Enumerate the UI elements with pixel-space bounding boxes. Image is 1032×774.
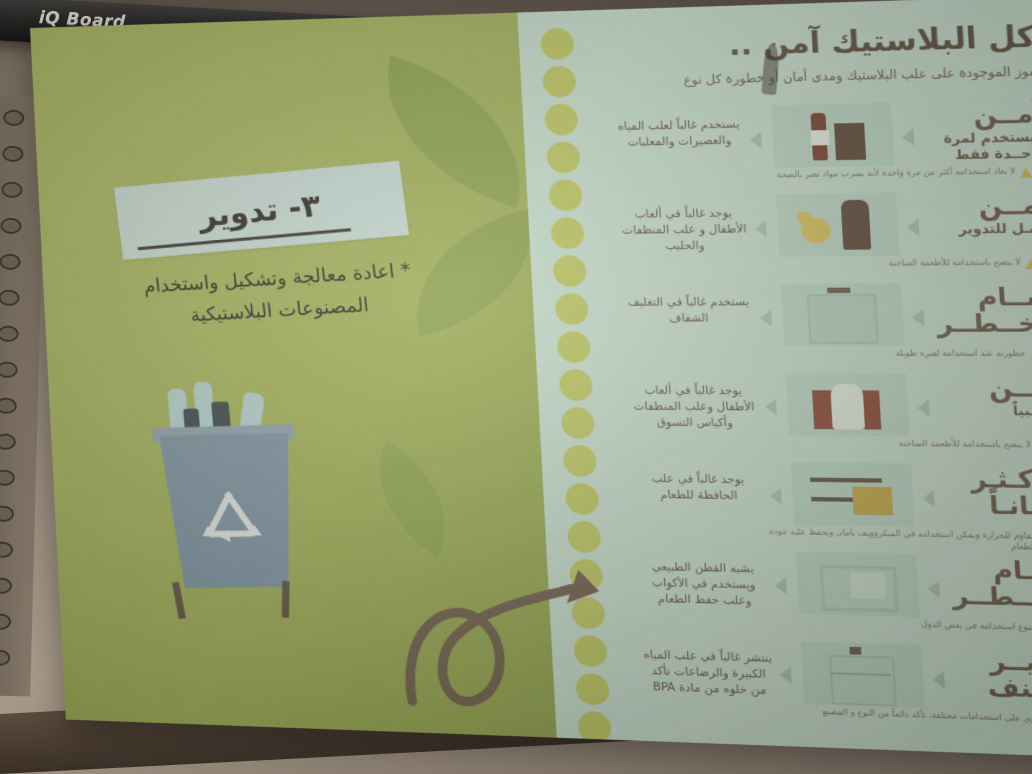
caution-note: لا ينصح باستخدامه للأطعمة الساخنة: [755, 437, 1031, 450]
divider-dot: [565, 483, 600, 515]
divider-dot: [540, 28, 575, 60]
clear-container-icon: [807, 294, 879, 344]
bin-leg: [282, 581, 290, 619]
notebook-ring: [0, 254, 21, 271]
plastic-code-row: 3Vســام وخــطــريستخدم غالباً في التغليف…: [611, 279, 1032, 366]
bottle-label-icon: [810, 130, 829, 145]
chevron-left-icon: [760, 310, 772, 327]
safety-verdict: آمــننســبياً: [934, 375, 1032, 419]
product-thumbnail: [781, 283, 905, 346]
chevron-left-icon: [922, 490, 935, 508]
divider-dot: [552, 255, 587, 287]
usage-description: ينتشر غالباً في علب المياه الكبيرة والرض…: [641, 647, 777, 700]
chevron-left-icon: [932, 671, 945, 689]
box-icon: [834, 123, 866, 160]
chevron-left-icon: [902, 128, 915, 146]
safety-verdict: آمــنقابـل للتدوير: [924, 193, 1032, 238]
usage-description: يوجد غالباً في ألعاب الأطفال وعلب المنظف…: [627, 383, 762, 432]
verdict-main: آمــن: [924, 193, 1032, 221]
safety-verdict: آمــنويستخدم لمرة واحــدة فقط: [919, 102, 1032, 163]
chevron-left-icon: [907, 219, 920, 237]
caution-note: لا ينصح باستخدامه للأطعمة الساخنة: [745, 257, 1020, 270]
usage-description: يستخدم غالباً لعلب المياه والعصيرات والم…: [612, 117, 746, 152]
divider-dot: [542, 66, 577, 98]
safety-verdict: ســام وخــطــر: [929, 284, 1032, 337]
handdrawn-arrow-annotation: [384, 535, 622, 725]
chevron-left-icon: [755, 220, 767, 237]
milk-jug-icon: [841, 200, 872, 250]
divider-dot: [563, 445, 598, 477]
notebook-ring: [0, 218, 21, 235]
notebook-ring: [0, 613, 11, 630]
left-slide: ٣- تدوير * اعادة معالجة وتشكيل واستخدام …: [30, 13, 557, 738]
notebook-ring: [0, 649, 10, 666]
recycle-symbol-icon: [194, 487, 267, 549]
caution-note: ممنوع استخدامه في بعض الدول: [765, 615, 1032, 633]
chevron-left-icon: [927, 580, 940, 598]
caution-note: خطورته عند استخدامه لفترة طويلة: [750, 348, 1026, 359]
verdict-main: آمــن: [934, 375, 1032, 402]
chevron-left-icon: [765, 399, 777, 416]
photo-of-classroom-projection: iQ Board ٣- تدوير * اعادة معالجة وتشكيل …: [0, 0, 1032, 774]
verdict-sub: نســبياً: [936, 403, 1032, 420]
usage-description: يستخدم غالباً في التغليف الشفاف: [622, 295, 756, 328]
notebook-ring: [2, 146, 23, 163]
warning-triangle-icon: [1020, 168, 1032, 178]
foam-cup-icon: [850, 572, 886, 599]
plastic-code-row: 1PETEآمــنويستخدم لمرة واحــدة فقطيستخدم…: [601, 95, 1032, 190]
chevron-left-icon: [779, 666, 791, 684]
divider-dot: [561, 407, 596, 439]
caution-note: يحتوي على استخدامات مختلفة، تأكد دائماً …: [770, 705, 1032, 725]
chevron-left-icon: [917, 399, 930, 416]
chevron-left-icon: [774, 577, 786, 594]
product-thumbnail: [786, 373, 910, 436]
notebook-ring: [0, 362, 18, 379]
safety-verdict: الأكـثـر أمـانـاً: [939, 466, 1032, 521]
divider-dot: [554, 293, 589, 325]
plastic-code-row: 7غــيــر مصنفينتشر غالباً في علب المياه …: [630, 634, 1032, 736]
projected-slide-surface: ٣- تدوير * اعادة معالجة وتشكيل واستخدام …: [30, 0, 1032, 761]
verdict-main: ســام وخــطــر: [945, 557, 1032, 613]
divider-dot: [544, 103, 579, 135]
plastic-code-row: 4LDPEآمــننســبياًيوجد غالباً في ألعاب ا…: [616, 370, 1032, 458]
verdict-main: آمــن: [919, 102, 1032, 131]
notebook-ring: [0, 469, 15, 486]
verdict-sub: ويستخدم لمرة واحــدة فقط: [921, 129, 1032, 163]
chevron-left-icon: [769, 488, 781, 505]
divider-dot: [550, 217, 585, 249]
product-thumbnail: [771, 103, 894, 168]
notebook-ring: [0, 290, 20, 307]
plastic-code-row: 2HDPEآمــنقابـل للتدويريوجد غالباً في أل…: [606, 187, 1032, 277]
notebook-ring: [3, 110, 24, 127]
verdict-main: غــيــر مصنف: [950, 647, 1032, 704]
notebook-ring: [0, 326, 19, 343]
food-container-icon: [852, 487, 893, 516]
verdict-sub: قابـل للتدوير: [926, 221, 1032, 238]
chevron-left-icon: [750, 131, 762, 148]
product-thumbnail: [801, 641, 925, 708]
divider-dot: [556, 331, 591, 363]
notebook-ring: [0, 577, 12, 594]
divider-dot: [548, 179, 583, 211]
infographic-subtitle: تعرف على الرموز الموجودة على علب البلاست…: [629, 60, 1032, 91]
projection-screen-area: ٣- تدوير * اعادة معالجة وتشكيل واستخدام …: [30, 0, 1032, 774]
usage-description: يوجد غالباً في ألعاب الأطفال و علب المنظ…: [617, 206, 752, 256]
shelf-line-icon: [810, 478, 882, 483]
caution-note: لا يعاد استخدامه أكثر من مرة واحدة لأنه …: [740, 166, 1015, 181]
chick-head-icon: [796, 211, 812, 224]
notebook-ring: [0, 541, 13, 558]
product-thumbnail: [776, 193, 900, 257]
container-lid-icon: [827, 288, 850, 294]
water-bottle-icon: [829, 655, 897, 707]
infographic-title: ليس كل البلاستيك آمن ..: [618, 18, 1032, 66]
notebook-ring: [0, 505, 14, 522]
right-slide-infographic: ليس كل البلاستيك آمن .. تعرف على الرموز …: [596, 0, 1032, 761]
shopping-bag-icon: [830, 384, 865, 430]
verdict-main: ســام وخــطــر: [929, 284, 1032, 337]
safety-verdict: ســام وخــطــر: [945, 557, 1032, 613]
plastic-code-row: 5PPالأكـثـر أمـانـاًيوجد غالباً في علب ا…: [621, 458, 1032, 551]
chevron-left-icon: [912, 309, 925, 326]
verdict-main: الأكـثـر أمـانـاً: [939, 466, 1032, 521]
safety-verdict: غــيــر مصنف: [950, 647, 1032, 704]
bin-leg: [172, 582, 186, 619]
warning-triangle-icon: [1025, 259, 1032, 269]
divider-dot: [546, 141, 581, 173]
usage-description: يوجد غالباً في علب الحافظة للطعام: [631, 471, 766, 505]
notebook-ring: [0, 398, 17, 415]
usage-description: يشبه القطن الطبيعي ويستخدم في الأكواب وع…: [636, 559, 772, 611]
divider-dot: [559, 369, 594, 401]
left-slide-body: * اعادة معالجة وتشكيل واستخدام المصنوعات…: [101, 253, 459, 337]
plastic-code-row: 6PSســام وخــطــريشبه القطن الطبيعي ويست…: [625, 546, 1032, 643]
notebook-ring: [1, 182, 22, 199]
product-thumbnail: [791, 462, 915, 526]
notebook-ring: [0, 433, 16, 450]
product-thumbnail: [796, 552, 920, 618]
bottle-cap-icon: [849, 647, 861, 655]
recycling-bin-illustration: [132, 378, 360, 638]
